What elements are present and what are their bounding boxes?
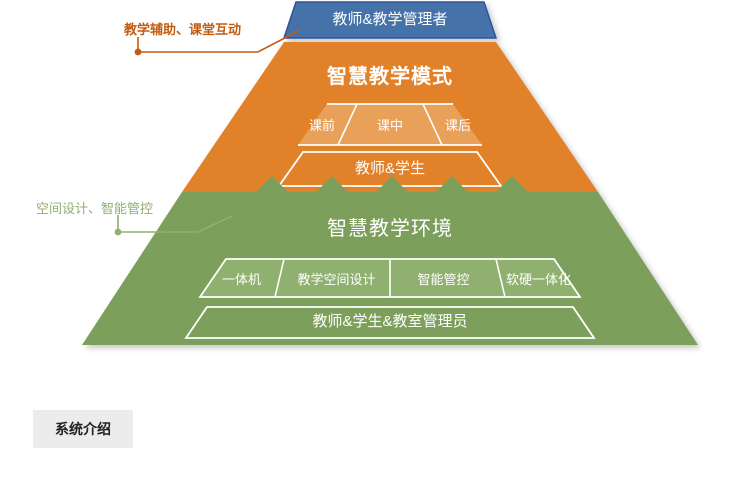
segment-space-design[interactable]: 教学空间设计 [283, 259, 390, 297]
segment-smart-control[interactable]: 智能管控 [390, 259, 497, 297]
diagram-canvas: 教师&教学管理者 智慧教学模式 课前 课中 课后 教师&学生 智慧教学环境 一体… [0, 0, 750, 501]
segment-soft-hard-integration[interactable]: 软硬一体化 [497, 259, 580, 297]
system-intro-label: 系统介绍 [55, 419, 111, 439]
segment-all-in-one[interactable]: 一体机 [200, 259, 283, 297]
level-teaching-environment-label: 智慧教学环境 [327, 218, 453, 240]
system-intro-button[interactable]: 系统介绍 [33, 410, 133, 448]
level-roles-orange-label: 教师&学生 [355, 161, 425, 178]
callout-teaching-support: 教学辅助、课堂互动 [124, 19, 241, 38]
callout-space-design-label: 空间设计、智能管控 [36, 201, 153, 216]
callout-teaching-support-label: 教学辅助、课堂互动 [124, 22, 241, 37]
level-teaching-phases: 课前 课中 课后 [298, 104, 482, 145]
callout-space-design: 空间设计、智能管控 [36, 198, 153, 217]
segment-space-design-label: 教学空间设计 [297, 269, 375, 288]
level-roles-top-label-wrap: 教师&教学管理者 [284, 2, 496, 38]
segment-all-in-one-label: 一体机 [222, 269, 261, 288]
level-roles-top-label: 教师&教学管理者 [332, 12, 447, 29]
level-teaching-mode-label: 智慧教学模式 [327, 66, 453, 88]
segment-after-class-label: 课后 [445, 115, 471, 134]
level-environment-components: 一体机 教学空间设计 智能管控 软硬一体化 [200, 259, 580, 297]
segment-before-class[interactable]: 课前 [298, 104, 346, 145]
segment-after-class[interactable]: 课后 [434, 104, 482, 145]
level-teaching-mode-label-wrap: 智慧教学模式 [230, 60, 550, 94]
level-roles-orange-label-wrap: 教师&学生 [279, 152, 501, 186]
level-roles-green-label-wrap: 教师&学生&教室管理员 [186, 306, 594, 338]
segment-during-class[interactable]: 课中 [346, 104, 434, 145]
level-roles-green-label: 教师&学生&教室管理员 [312, 314, 467, 331]
segment-before-class-label: 课前 [309, 115, 335, 134]
segment-during-class-label: 课中 [377, 115, 403, 134]
segment-smart-control-label: 智能管控 [417, 269, 469, 288]
level-teaching-environment-label-wrap: 智慧教学环境 [230, 212, 550, 246]
segment-soft-hard-integration-label: 软硬一体化 [506, 269, 571, 288]
